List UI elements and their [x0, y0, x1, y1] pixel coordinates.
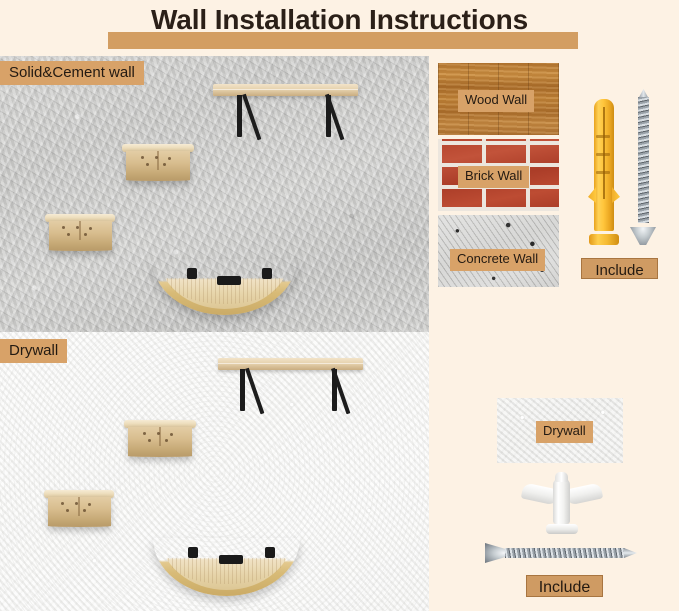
cat-bridge-drywall [153, 538, 300, 596]
anchor-barb-left [588, 187, 596, 203]
include-badge-solid-cement: Include [581, 258, 658, 279]
anchor-barb-right [612, 187, 620, 203]
screw-threaded-shaft [638, 97, 649, 223]
step-half-round-body [49, 221, 112, 251]
mount-hole [146, 163, 149, 166]
wood-wall-label: Wood Wall [458, 90, 534, 112]
shelf-bracket-left [240, 369, 245, 411]
drywall-anchor-tip [555, 472, 568, 482]
mount-hole [66, 509, 69, 512]
shelf-bracket-left [237, 95, 242, 137]
wall-type-swatch-brick: Brick Wall [438, 139, 559, 211]
anchor-rib [596, 135, 610, 138]
silver-screw-vertical-icon [630, 95, 656, 245]
white-winged-drywall-anchor-icon [522, 472, 602, 534]
drywall-photo: Drywall [0, 332, 429, 611]
mount-hole [165, 439, 168, 442]
mount-hole [76, 226, 79, 229]
infographic-page: Wall Installation Instructions Solid&Cem… [0, 0, 679, 611]
drywall-caption: Drywall [0, 339, 67, 363]
bridge-clip-center [219, 555, 243, 564]
anchor-rib [596, 171, 610, 174]
screw-tip [624, 548, 637, 558]
page-header: Wall Installation Instructions [0, 0, 679, 56]
mount-hole [141, 156, 144, 159]
step-half-round-body [126, 151, 191, 181]
wall-type-swatch-concrete: Concrete Wall [438, 215, 559, 287]
yellow-plastic-wall-anchor-icon [588, 95, 620, 245]
screw-countersunk-head [630, 227, 656, 245]
wall-shelf-drywall [218, 358, 363, 414]
silver-screw-horizontal-icon [485, 543, 637, 563]
drywall-anchor-wing-right [565, 482, 604, 505]
bridge-clip-right [262, 268, 272, 279]
bridge-clip-center [217, 276, 241, 285]
wall-type-swatch-wood: Wood Wall [438, 63, 559, 135]
mount-hole [89, 227, 92, 230]
mount-hole [155, 156, 158, 159]
mount-hole [143, 432, 146, 435]
mount-hole [170, 433, 173, 436]
mount-hole [148, 439, 151, 442]
concrete-wall-label: Concrete Wall [450, 249, 545, 271]
wall-type-swatch-drywall: Drywall [497, 398, 623, 463]
step-half-round-body [128, 427, 193, 457]
shelf-bracket-left-diagonal [245, 368, 264, 415]
drywall-anchor-stem [553, 478, 570, 524]
drywall-anchor-flange [546, 524, 578, 534]
cat-step-lower-drywall [44, 490, 114, 520]
mount-hole [168, 157, 171, 160]
bridge-clip-left [188, 547, 198, 558]
wall-shelf-cement [213, 84, 358, 140]
cement-wall-photo: Solid&Cement wall [0, 56, 429, 332]
bridge-clip-left [187, 268, 197, 279]
bridge-clip-right [265, 547, 275, 558]
include-badge-drywall: Include [526, 575, 603, 597]
anchor-rib [596, 153, 610, 156]
mount-hole [157, 432, 160, 435]
drywall-swatch-label: Drywall [536, 421, 593, 443]
mount-hole [62, 226, 65, 229]
screw-countersunk-head [485, 543, 507, 563]
page-title: Wall Installation Instructions [0, 4, 679, 36]
brick-wall-label: Brick Wall [458, 166, 529, 188]
mount-hole [163, 163, 166, 166]
mount-hole [88, 503, 91, 506]
cat-step-lower-cement [45, 214, 115, 244]
screw-threaded-shaft [505, 548, 625, 558]
cat-step-upper-cement [122, 144, 194, 174]
shelf-board [213, 84, 358, 96]
mount-hole [75, 502, 78, 505]
anchor-collar [589, 234, 619, 245]
mount-hole [84, 233, 87, 236]
mount-hole [83, 509, 86, 512]
mount-hole [61, 502, 64, 505]
cement-wall-caption: Solid&Cement wall [0, 61, 144, 85]
step-half-round-body [48, 497, 111, 527]
cat-bridge-cement [152, 259, 297, 315]
cat-step-upper-drywall [124, 420, 196, 450]
shelf-bracket-left-diagonal [242, 94, 261, 141]
mount-hole [67, 233, 70, 236]
